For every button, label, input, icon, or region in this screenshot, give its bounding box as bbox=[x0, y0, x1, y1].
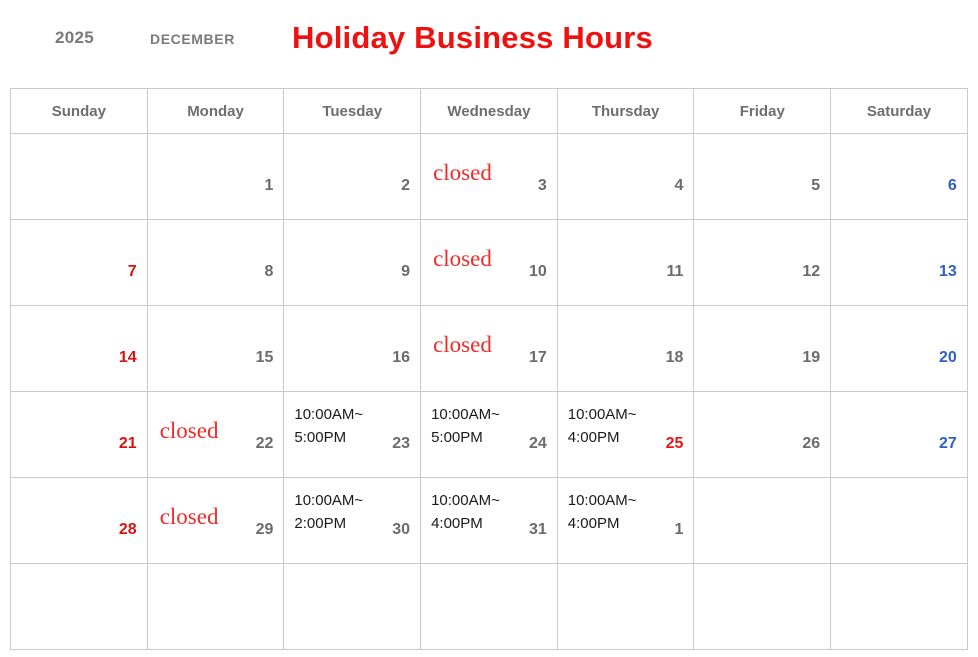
day-cell-content bbox=[558, 564, 694, 649]
day-cell-content: 10:00AM~4:00PM25 bbox=[558, 392, 694, 477]
weekday-header-sunday: Sunday bbox=[11, 89, 148, 134]
business-hours: 10:00AM~2:00PM bbox=[294, 490, 363, 535]
day-cell[interactable]: closed29 bbox=[147, 478, 284, 564]
day-cell[interactable]: 10:00AM~4:00PM31 bbox=[421, 478, 558, 564]
day-cell-content: 10:00AM~5:00PM24 bbox=[421, 392, 557, 477]
week-row: 141516closed17181920 bbox=[11, 306, 968, 392]
calendar-table: SundayMondayTuesdayWednesdayThursdayFrid… bbox=[10, 88, 968, 650]
day-cell[interactable]: 19 bbox=[694, 306, 831, 392]
day-cell[interactable]: 21 bbox=[11, 392, 148, 478]
day-cell-content: 9 bbox=[284, 220, 420, 305]
day-cell-content bbox=[11, 564, 147, 649]
day-cell[interactable]: 2 bbox=[284, 134, 421, 220]
business-hours: 10:00AM~5:00PM bbox=[294, 404, 363, 449]
day-cell[interactable]: 26 bbox=[694, 392, 831, 478]
day-cell[interactable]: 10:00AM~5:00PM24 bbox=[421, 392, 558, 478]
business-hours: 10:00AM~5:00PM bbox=[431, 404, 500, 449]
day-cell[interactable]: 11 bbox=[557, 220, 694, 306]
hours-close-time: 4:00PM bbox=[568, 513, 637, 536]
day-number: 24 bbox=[529, 436, 547, 452]
day-number: 25 bbox=[666, 436, 684, 452]
day-cell[interactable] bbox=[694, 478, 831, 564]
day-cell-content: closed10 bbox=[421, 220, 557, 305]
day-cell[interactable]: 15 bbox=[147, 306, 284, 392]
hours-open-time: 10:00AM~ bbox=[431, 492, 500, 509]
day-number: 9 bbox=[401, 264, 410, 280]
day-cell[interactable]: closed22 bbox=[147, 392, 284, 478]
day-number: 11 bbox=[667, 264, 684, 280]
day-number: 19 bbox=[802, 350, 820, 366]
day-cell[interactable]: 10:00AM~4:00PM25 bbox=[557, 392, 694, 478]
hours-open-time: 10:00AM~ bbox=[294, 406, 363, 423]
day-cell-content: 28 bbox=[11, 478, 147, 563]
day-cell-content: 12 bbox=[694, 220, 830, 305]
week-row: 789closed10111213 bbox=[11, 220, 968, 306]
hours-close-time: 4:00PM bbox=[431, 513, 500, 536]
day-cell-content: 10:00AM~4:00PM1 bbox=[558, 478, 694, 563]
day-cell-content: 7 bbox=[11, 220, 147, 305]
day-cell[interactable]: 27 bbox=[831, 392, 968, 478]
closed-label: closed bbox=[433, 333, 492, 356]
weekday-header-row: SundayMondayTuesdayWednesdayThursdayFrid… bbox=[11, 89, 968, 134]
day-cell[interactable] bbox=[11, 134, 148, 220]
day-number: 23 bbox=[392, 436, 410, 452]
day-cell[interactable]: 28 bbox=[11, 478, 148, 564]
day-cell[interactable]: 8 bbox=[147, 220, 284, 306]
day-number: 2 bbox=[401, 178, 410, 194]
weekday-header-wednesday: Wednesday bbox=[421, 89, 558, 134]
day-cell-content: 21 bbox=[11, 392, 147, 477]
day-number: 8 bbox=[264, 264, 273, 280]
weekday-header-saturday: Saturday bbox=[831, 89, 968, 134]
week-row: 28closed2910:00AM~2:00PM3010:00AM~4:00PM… bbox=[11, 478, 968, 564]
hours-open-time: 10:00AM~ bbox=[568, 492, 637, 509]
day-cell[interactable]: 7 bbox=[11, 220, 148, 306]
month-label: DECEMBER bbox=[150, 31, 235, 47]
business-hours: 10:00AM~4:00PM bbox=[568, 490, 637, 535]
hours-close-time: 4:00PM bbox=[568, 427, 637, 450]
day-cell-content bbox=[421, 564, 557, 649]
day-number: 20 bbox=[939, 350, 957, 366]
day-cell-content: 10:00AM~4:00PM31 bbox=[421, 478, 557, 563]
day-cell[interactable]: 5 bbox=[694, 134, 831, 220]
day-number: 21 bbox=[119, 436, 137, 452]
day-cell-content: 5 bbox=[694, 134, 830, 219]
day-cell-content bbox=[831, 478, 967, 563]
day-cell[interactable]: closed3 bbox=[421, 134, 558, 220]
day-cell-content bbox=[694, 478, 830, 563]
day-cell[interactable] bbox=[831, 478, 968, 564]
day-cell-content bbox=[284, 564, 420, 649]
closed-label: closed bbox=[160, 505, 219, 528]
day-cell-content: closed3 bbox=[421, 134, 557, 219]
hours-close-time: 5:00PM bbox=[431, 427, 500, 450]
day-cell-content: 26 bbox=[694, 392, 830, 477]
day-cell[interactable]: 13 bbox=[831, 220, 968, 306]
day-number: 12 bbox=[802, 264, 820, 280]
hours-close-time: 5:00PM bbox=[294, 427, 363, 450]
day-number: 4 bbox=[675, 178, 684, 194]
hours-close-time: 2:00PM bbox=[294, 513, 363, 536]
day-cell[interactable]: 18 bbox=[557, 306, 694, 392]
weekday-header-friday: Friday bbox=[694, 89, 831, 134]
day-cell[interactable]: 9 bbox=[284, 220, 421, 306]
day-cell[interactable] bbox=[557, 564, 694, 650]
day-cell[interactable]: 6 bbox=[831, 134, 968, 220]
day-cell[interactable]: closed10 bbox=[421, 220, 558, 306]
business-hours: 10:00AM~4:00PM bbox=[431, 490, 500, 535]
day-cell-content: 13 bbox=[831, 220, 967, 305]
day-number: 15 bbox=[256, 350, 274, 366]
day-cell[interactable]: 20 bbox=[831, 306, 968, 392]
day-cell-content: 11 bbox=[558, 220, 694, 305]
day-number: 1 bbox=[264, 178, 273, 194]
day-cell-content: 10:00AM~2:00PM30 bbox=[284, 478, 420, 563]
calendar-header: 2025 DECEMBER Holiday Business Hours bbox=[0, 0, 978, 86]
day-number: 3 bbox=[538, 178, 547, 194]
weekday-header-thursday: Thursday bbox=[557, 89, 694, 134]
weekday-header-tuesday: Tuesday bbox=[284, 89, 421, 134]
day-number: 13 bbox=[939, 264, 957, 280]
day-number: 16 bbox=[392, 350, 410, 366]
day-cell[interactable] bbox=[694, 564, 831, 650]
day-cell[interactable]: 10:00AM~5:00PM23 bbox=[284, 392, 421, 478]
weekday-header-monday: Monday bbox=[147, 89, 284, 134]
day-number: 22 bbox=[256, 436, 274, 452]
day-number: 31 bbox=[529, 522, 547, 538]
day-cell-content: 16 bbox=[284, 306, 420, 391]
year-label: 2025 bbox=[55, 28, 94, 48]
day-cell-content: 14 bbox=[11, 306, 147, 391]
day-cell[interactable] bbox=[11, 564, 148, 650]
day-cell-content bbox=[148, 564, 284, 649]
day-cell[interactable] bbox=[147, 564, 284, 650]
business-hours: 10:00AM~4:00PM bbox=[568, 404, 637, 449]
closed-label: closed bbox=[433, 161, 492, 184]
day-cell[interactable]: closed17 bbox=[421, 306, 558, 392]
day-number: 1 bbox=[675, 522, 684, 538]
day-cell-content: 27 bbox=[831, 392, 967, 477]
day-number: 6 bbox=[948, 178, 957, 194]
calendar-grid: SundayMondayTuesdayWednesdayThursdayFrid… bbox=[10, 88, 967, 650]
day-number: 27 bbox=[939, 436, 957, 452]
day-cell-content: 8 bbox=[148, 220, 284, 305]
closed-label: closed bbox=[160, 419, 219, 442]
day-number: 29 bbox=[256, 522, 274, 538]
week-row: 21closed2210:00AM~5:00PM2310:00AM~5:00PM… bbox=[11, 392, 968, 478]
day-cell-content bbox=[11, 134, 147, 219]
day-cell-content: 20 bbox=[831, 306, 967, 391]
day-cell[interactable]: 16 bbox=[284, 306, 421, 392]
day-cell-content: closed17 bbox=[421, 306, 557, 391]
hours-open-time: 10:00AM~ bbox=[431, 406, 500, 423]
day-number: 5 bbox=[811, 178, 820, 194]
day-cell-content: 1 bbox=[148, 134, 284, 219]
day-cell-content: 19 bbox=[694, 306, 830, 391]
closed-label: closed bbox=[433, 247, 492, 270]
day-number: 18 bbox=[666, 350, 684, 366]
page-title: Holiday Business Hours bbox=[292, 20, 653, 56]
day-number: 7 bbox=[128, 264, 137, 280]
day-cell-content bbox=[831, 564, 967, 649]
day-number: 30 bbox=[392, 522, 410, 538]
day-cell-content: 15 bbox=[148, 306, 284, 391]
day-cell[interactable] bbox=[421, 564, 558, 650]
hours-open-time: 10:00AM~ bbox=[568, 406, 637, 423]
week-row: 12closed3456 bbox=[11, 134, 968, 220]
hours-open-time: 10:00AM~ bbox=[294, 492, 363, 509]
day-cell-content: closed22 bbox=[148, 392, 284, 477]
day-cell-content: 4 bbox=[558, 134, 694, 219]
day-cell[interactable]: 10:00AM~2:00PM30 bbox=[284, 478, 421, 564]
day-number: 14 bbox=[119, 350, 137, 366]
day-cell-content: 2 bbox=[284, 134, 420, 219]
day-cell[interactable] bbox=[284, 564, 421, 650]
day-cell-content: closed29 bbox=[148, 478, 284, 563]
day-cell[interactable]: 10:00AM~4:00PM1 bbox=[557, 478, 694, 564]
day-number: 28 bbox=[119, 522, 137, 538]
day-number: 26 bbox=[802, 436, 820, 452]
week-row bbox=[11, 564, 968, 650]
day-cell-content: 10:00AM~5:00PM23 bbox=[284, 392, 420, 477]
day-cell[interactable]: 14 bbox=[11, 306, 148, 392]
day-cell[interactable]: 1 bbox=[147, 134, 284, 220]
day-cell-content: 18 bbox=[558, 306, 694, 391]
day-cell-content: 6 bbox=[831, 134, 967, 219]
day-cell[interactable]: 4 bbox=[557, 134, 694, 220]
day-cell[interactable] bbox=[831, 564, 968, 650]
day-cell[interactable]: 12 bbox=[694, 220, 831, 306]
day-number: 17 bbox=[529, 350, 547, 366]
day-cell-content bbox=[694, 564, 830, 649]
day-number: 10 bbox=[529, 264, 547, 280]
